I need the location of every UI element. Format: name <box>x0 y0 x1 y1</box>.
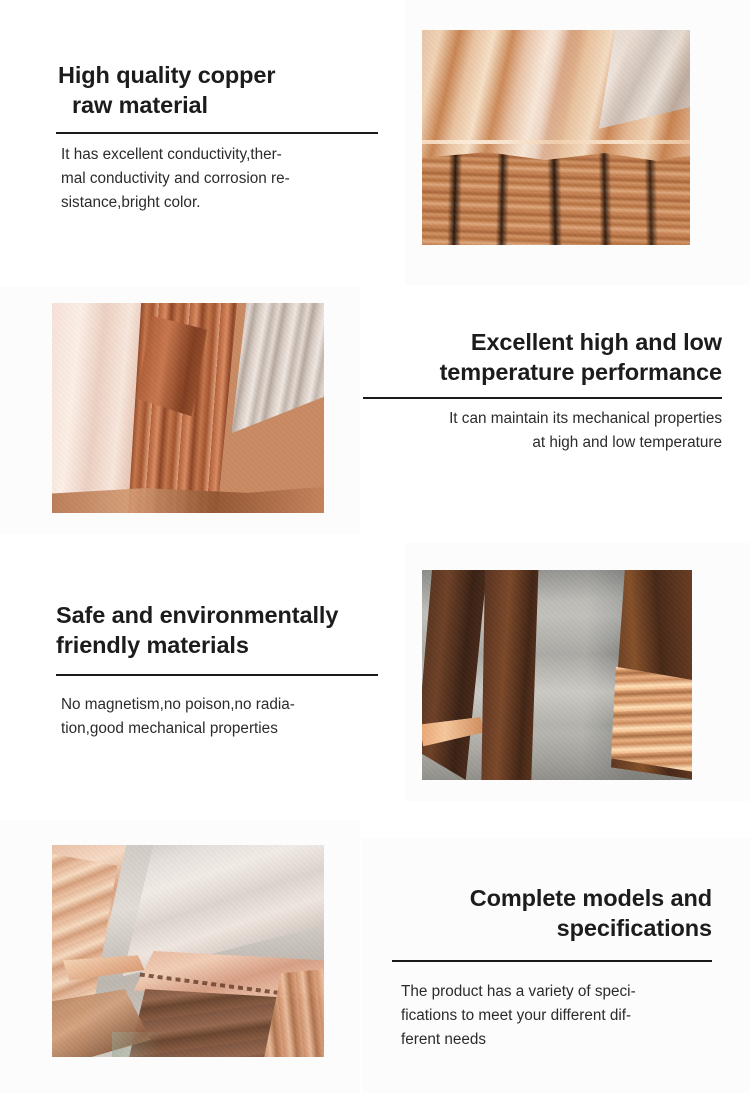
copper-bars-bright-cut-ends-photo <box>422 570 692 780</box>
feature-body-4-line2: fications to meet your different dif- <box>401 1004 712 1028</box>
feature-body-2-line2: at high and low temperature <box>363 431 722 455</box>
feature-title-2-line2: temperature performance <box>363 357 722 387</box>
feature-body-1-line3: sistance,bright color. <box>61 191 380 215</box>
feature-block-excellent-high-and-low-temperature-performance: Excellent high and low temperature perfo… <box>363 327 722 455</box>
feature-body-4-line3: ferent needs <box>401 1028 712 1052</box>
feature-body-4: The product has a variety of speci- fica… <box>392 980 712 1052</box>
feature-title-3: Safe and environmentally friendly materi… <box>56 600 380 660</box>
feature-title-1: High quality copper raw material <box>56 60 380 120</box>
feature-divider-1 <box>56 132 378 134</box>
copper-flat-bars-stacked-photo <box>422 30 690 245</box>
copper-bars-jumbled-pile-photo <box>52 303 324 513</box>
feature-title-4-line1: Complete models and <box>392 883 712 913</box>
feature-title-2-line1: Excellent high and low <box>363 327 722 357</box>
feature-body-3: No magnetism,no poison,no radia- tion,go… <box>56 693 380 741</box>
feature-body-3-line1: No magnetism,no poison,no radia- <box>61 693 380 717</box>
feature-title-4: Complete models and specifications <box>392 883 712 943</box>
feature-body-1-line2: mal conductivity and corrosion re- <box>61 167 380 191</box>
feature-body-4-line1: The product has a variety of speci- <box>401 980 712 1004</box>
feature-title-1-line1: High quality copper <box>58 62 275 88</box>
feature-title-4-line2: specifications <box>392 913 712 943</box>
feature-title-2: Excellent high and low temperature perfo… <box>363 327 722 387</box>
feature-body-2: It can maintain its mechanical propertie… <box>363 407 722 455</box>
product-features-page: High quality copper raw material It has … <box>0 0 750 1093</box>
feature-title-1-line2: raw material <box>58 90 380 120</box>
feature-body-3-line2: tion,good mechanical properties <box>61 717 380 741</box>
feature-body-1: It has excellent conductivity,ther- mal … <box>56 143 380 215</box>
feature-title-3-line1: Safe and environmentally <box>56 600 380 630</box>
copper-thick-plates-closeup-photo <box>52 845 324 1057</box>
feature-divider-3 <box>56 674 378 676</box>
feature-block-high-quality-copper-raw-material: High quality copper raw material It has … <box>56 60 380 215</box>
feature-block-complete-models-and-specifications: Complete models and specifications The p… <box>392 883 712 1052</box>
feature-divider-2 <box>363 397 722 399</box>
feature-divider-4 <box>392 960 712 962</box>
feature-block-safe-and-environmentally-friendly-materials: Safe and environmentally friendly materi… <box>56 600 380 741</box>
feature-title-3-line2: friendly materials <box>56 630 380 660</box>
feature-body-1-line1: It has excellent conductivity,ther- <box>61 143 380 167</box>
feature-body-2-line1: It can maintain its mechanical propertie… <box>363 407 722 431</box>
